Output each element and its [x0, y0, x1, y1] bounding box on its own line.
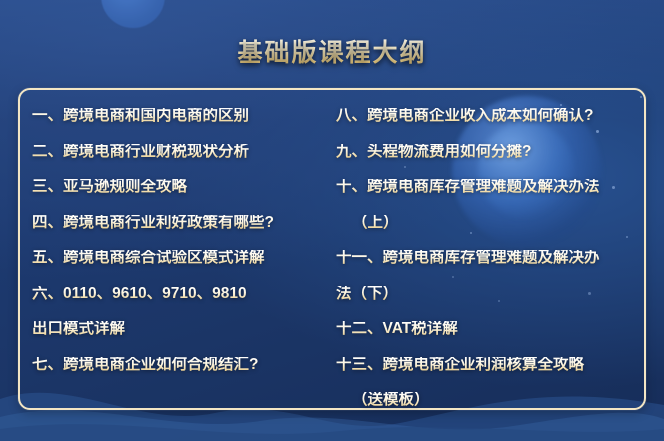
outline-item: 九、头程物流费用如何分摊?: [336, 144, 636, 160]
outline-item: 三、亚马逊规则全攻略: [32, 179, 332, 195]
outline-right-column: 八、跨境电商企业收入成本如何确认? 九、头程物流费用如何分摊? 十、跨境电商库存…: [336, 108, 636, 400]
outline-left-column: 一、跨境电商和国内电商的区别 二、跨境电商行业财税现状分析 三、亚马逊规则全攻略…: [32, 108, 332, 400]
outline-item: 五、跨境电商综合试验区模式详解: [32, 250, 332, 266]
outline-item-continuation: 出口模式详解: [32, 321, 332, 337]
page-title: 基础版课程大纲: [0, 33, 664, 69]
outline-item: 十一、跨境电商库存管理难题及解决办: [336, 250, 636, 266]
course-outline-poster: 基础版课程大纲 一、跨境电商和国内电商的区别 二、跨境电商行业财税现状分析 三、…: [0, 0, 664, 441]
outline-item: 十、跨境电商库存管理难题及解决办法: [336, 179, 636, 195]
outline-item: 二、跨境电商行业财税现状分析: [32, 144, 332, 160]
outline-item: 七、跨境电商企业如何合规结汇?: [32, 357, 332, 373]
outline-item: 八、跨境电商企业收入成本如何确认?: [336, 108, 636, 124]
outline-item-continuation: （送模板）: [336, 392, 636, 408]
outline-item-continuation: （上）: [336, 215, 636, 231]
outline-item-continuation: 法（下）: [336, 286, 636, 302]
outline-item: 十二、VAT税详解: [336, 321, 636, 337]
accent-circle: [101, 0, 165, 28]
outline-item: 四、跨境电商行业利好政策有哪些?: [32, 215, 332, 231]
outline-item: 一、跨境电商和国内电商的区别: [32, 108, 332, 124]
outline-columns: 一、跨境电商和国内电商的区别 二、跨境电商行业财税现状分析 三、亚马逊规则全攻略…: [18, 88, 646, 410]
outline-item: 十三、跨境电商企业利润核算全攻略: [336, 357, 636, 373]
outline-item: 六、0110、9610、9710、9810: [32, 286, 332, 302]
